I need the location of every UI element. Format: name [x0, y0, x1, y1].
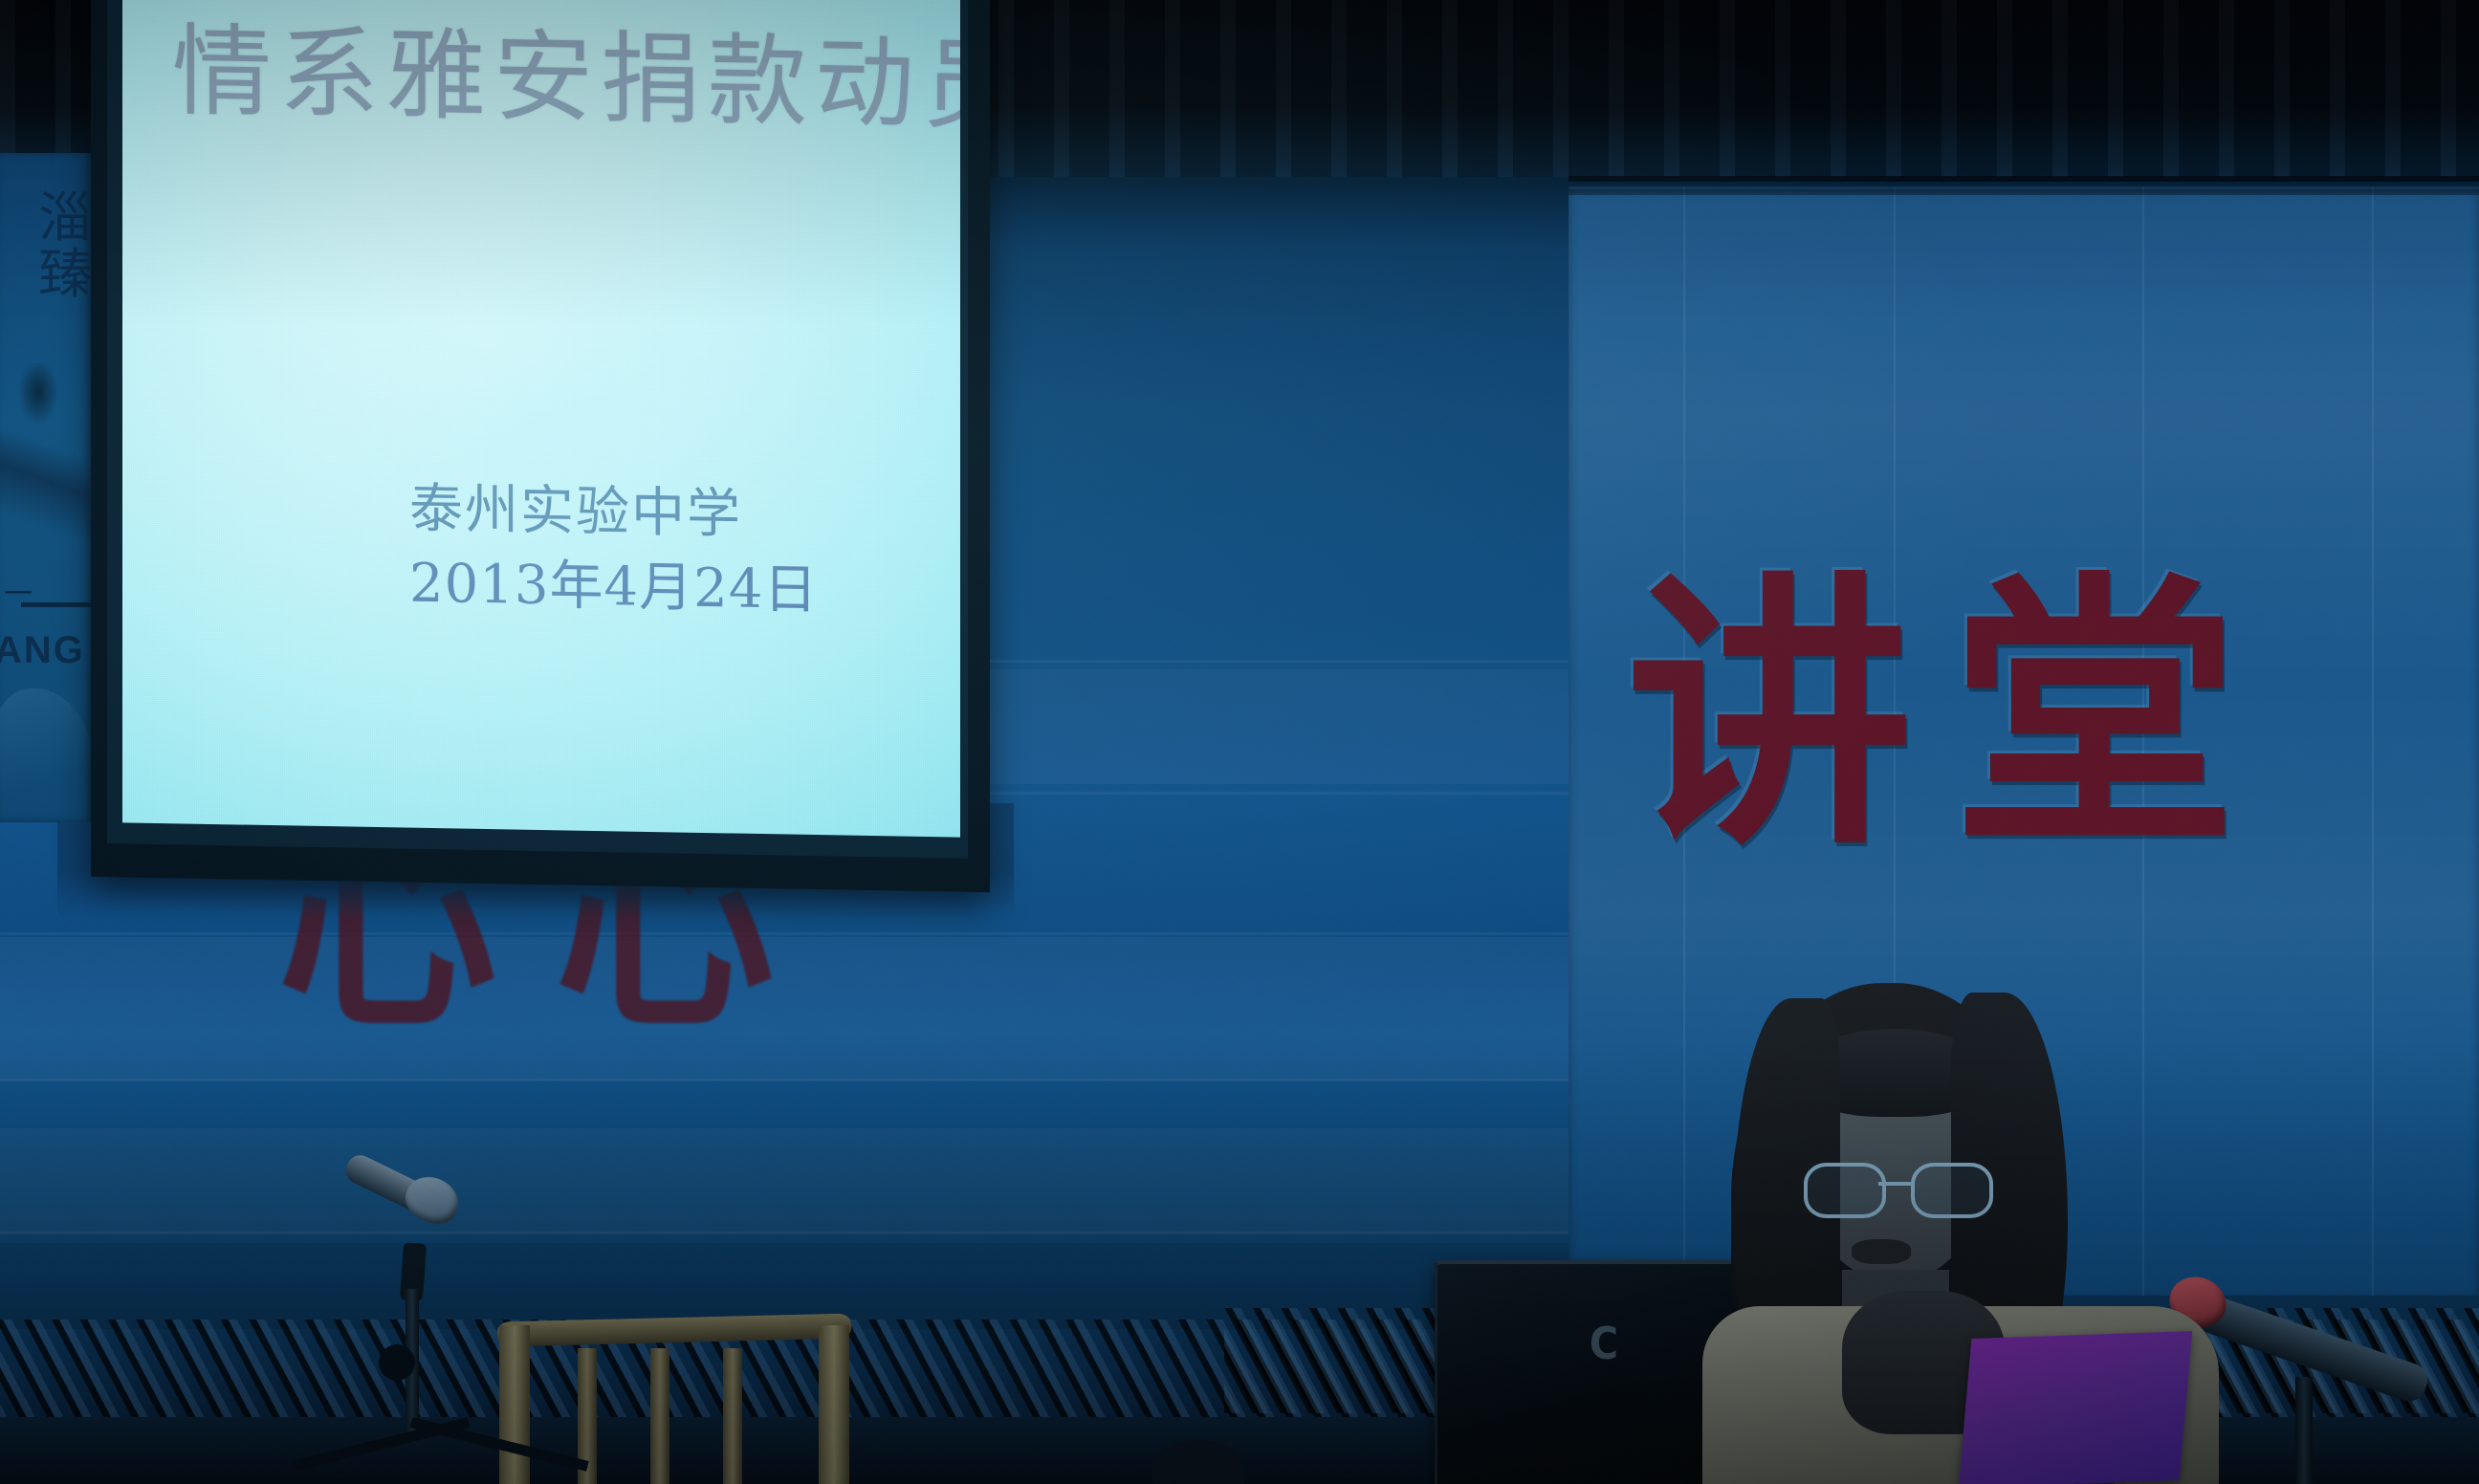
slide-organization: 泰州实验中学 — [409, 474, 945, 555]
purple-paper-sheet — [1959, 1331, 2193, 1484]
wooden-chair-slat — [650, 1348, 669, 1484]
poster-latin-text: ANG — [0, 629, 92, 672]
wooden-chair-post — [819, 1325, 849, 1484]
glasses-icon — [1804, 1163, 1985, 1214]
projection-screen: 情系雅安捐款动员 泰州实验中学 2013年4月24日 — [122, 0, 960, 838]
glasses-lens-right — [1911, 1163, 1993, 1218]
left-vertical-poster: 淄 臻 一 ANG — [0, 153, 92, 822]
microphone-right-stem — [2295, 1377, 2313, 1484]
auditorium-photo: 心心 讲堂 淄 臻 一 ANG 情系雅安捐款动员 泰州实验中学 2013年4月2… — [0, 0, 2479, 1484]
poster-chinese-text: 淄 臻 — [0, 191, 92, 304]
poster-figure-motif — [0, 688, 92, 822]
poster-brush-motif — [0, 363, 92, 564]
microphone-left-adjust-knob — [379, 1344, 415, 1381]
glasses-bridge — [1878, 1182, 1911, 1186]
slide-title: 情系雅安捐款动员 — [172, 16, 928, 139]
banner-rail — [1569, 176, 2479, 182]
glasses-lens-left — [1804, 1163, 1886, 1218]
hall-banner-text: 讲堂 — [1626, 574, 2479, 861]
poster-rule — [21, 602, 92, 607]
laptop-brand-logo: C — [1590, 1318, 1618, 1369]
slide-date: 2013年4月24日 — [409, 549, 945, 629]
presenter-mouth — [1852, 1239, 1911, 1264]
wooden-chair-slat — [723, 1348, 742, 1484]
wooden-chair-post — [499, 1325, 530, 1484]
